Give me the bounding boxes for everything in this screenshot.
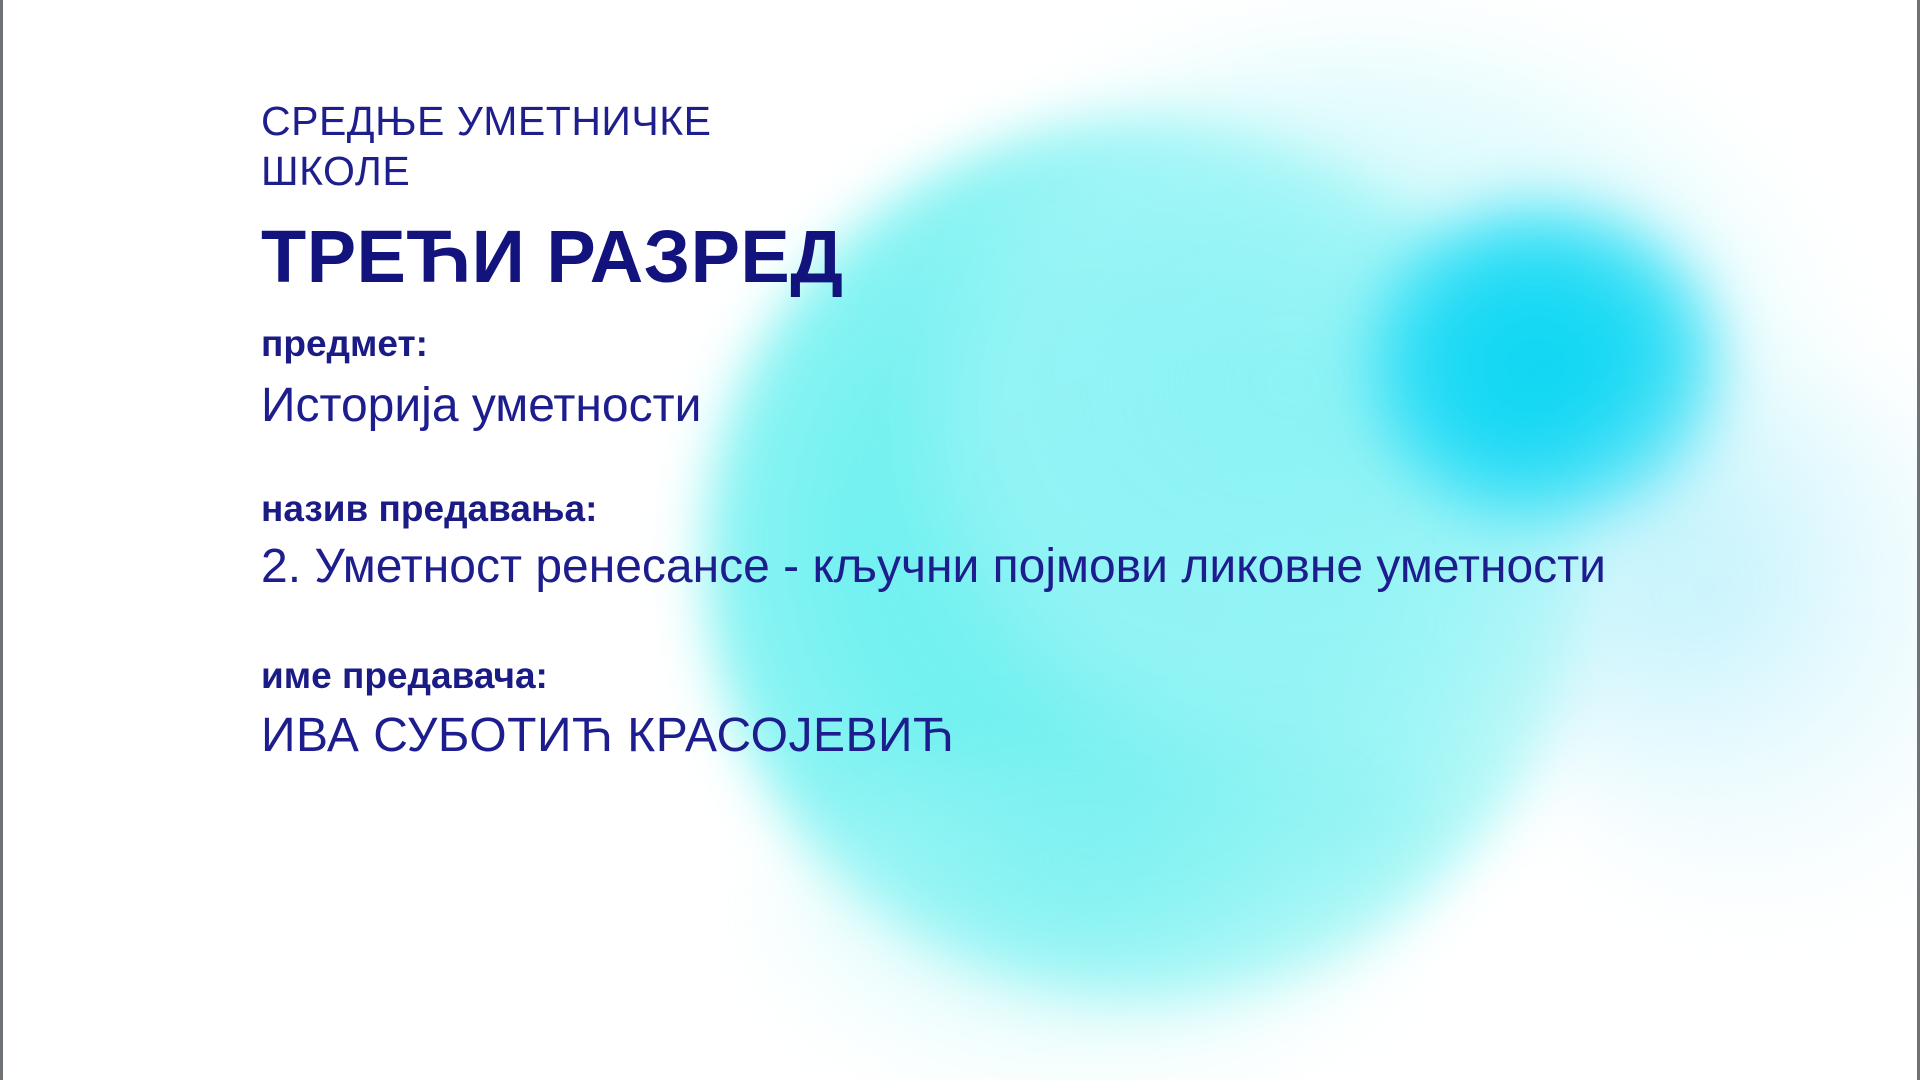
teacher-label: име предавача: bbox=[261, 654, 1861, 698]
teacher-row: име предавача: ИВА СУБОТИЋ КРАСОЈЕВИЋ bbox=[261, 654, 1861, 765]
lecture-value: 2. Уметност ренесансе - кључни појмови л… bbox=[261, 539, 1861, 596]
aqua-blob-tail bbox=[763, 760, 1403, 1080]
title-slide: СРЕДЊЕ УМЕТНИЧКЕ ШКОЛЕ ТРЕЋИ РАЗРЕД пред… bbox=[0, 0, 1920, 1080]
subject-value: Историја уметности bbox=[261, 378, 1861, 435]
lecture-label: назив предавања: bbox=[261, 487, 1861, 531]
lecture-row: назив предавања: 2. Уметност ренесансе -… bbox=[261, 487, 1861, 596]
slide-text-block: СРЕДЊЕ УМЕТНИЧКЕ ШКОЛЕ ТРЕЋИ РАЗРЕД пред… bbox=[261, 96, 1861, 765]
subject-label: предмет: bbox=[261, 322, 1861, 366]
school-name: СРЕДЊЕ УМЕТНИЧКЕ ШКОЛЕ bbox=[261, 96, 1861, 196]
subject-row: предмет: Историја уметности bbox=[261, 322, 1861, 435]
page-title: ТРЕЋИ РАЗРЕД bbox=[261, 218, 1861, 296]
teacher-value: ИВА СУБОТИЋ КРАСОЈЕВИЋ bbox=[261, 708, 1861, 765]
